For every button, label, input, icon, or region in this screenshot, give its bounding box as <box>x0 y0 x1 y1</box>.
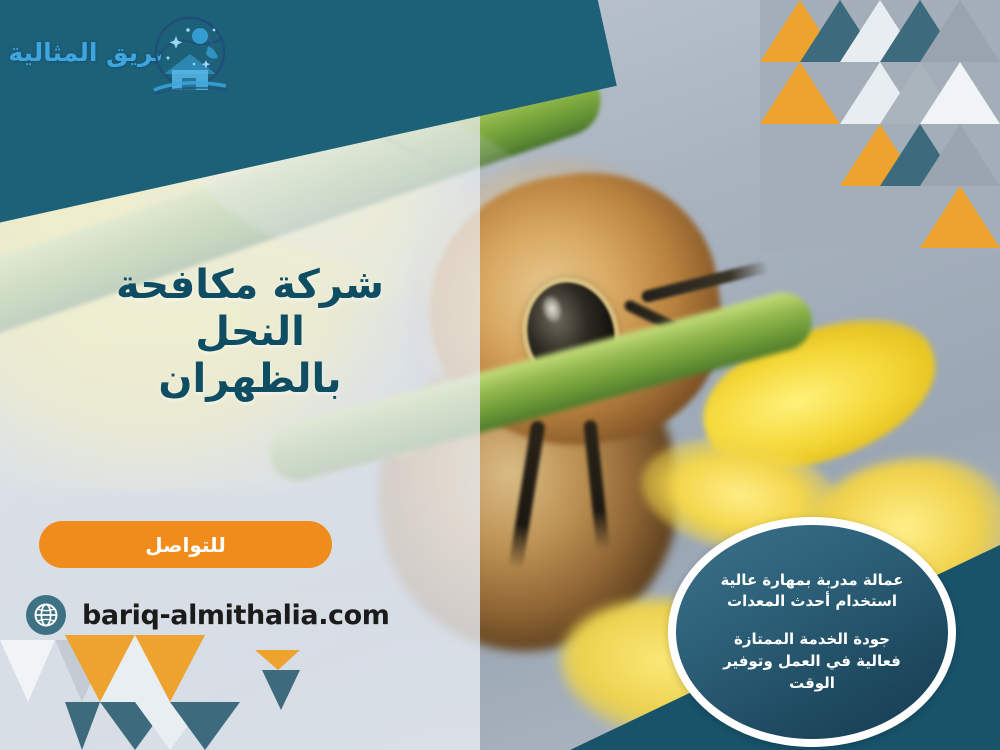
badge-b1-line1: عمالة مدربة بمهارة عالية <box>720 570 903 592</box>
poster-headline: شركة مكافحة النحل بالظهران <box>40 262 460 404</box>
badge-block-two: جودة الخدمة الممتازة فعالية في العمل وتو… <box>723 629 901 694</box>
globe-icon <box>26 595 66 635</box>
features-badge: عمالة مدربة بمهارة عالية استخدام أحدث ال… <box>668 517 956 747</box>
website-url[interactable]: bariq-almithalia.com <box>82 600 390 631</box>
house-globe-icon <box>144 12 236 100</box>
headline-line-3: بالظهران <box>40 356 460 403</box>
triangle-pattern-top-right <box>760 0 1000 250</box>
badge-b2-line2: فعالية في العمل وتوفير <box>723 651 901 673</box>
brand-logo-text: بريق المثالية <box>8 38 163 67</box>
contact-button[interactable]: للتواصل <box>39 521 332 568</box>
headline-line-1: شركة مكافحة <box>40 262 460 309</box>
poster-canvas: بريق المثالية <box>0 0 1000 750</box>
triangle-pattern-tr-svg <box>760 0 1000 250</box>
badge-b2-line3: الوقت <box>723 673 901 695</box>
badge-b1-line2: استخدام أحدث المعدات <box>720 591 903 613</box>
badge-b2-line1: جودة الخدمة الممتازة <box>723 629 901 651</box>
badge-block-one: عمالة مدربة بمهارة عالية استخدام أحدث ال… <box>720 570 903 614</box>
headline-line-2: النحل <box>40 309 460 356</box>
website-row[interactable]: bariq-almithalia.com <box>26 595 390 635</box>
brand-logo[interactable]: بريق المثالية <box>26 8 241 103</box>
